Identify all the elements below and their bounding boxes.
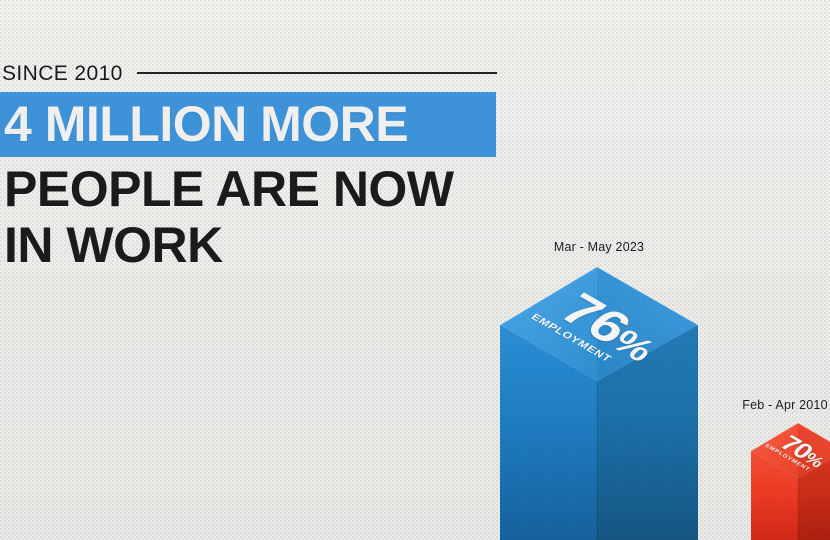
kicker-divider — [137, 72, 497, 74]
headline-line-2: PEOPLE ARE NOW — [0, 161, 520, 217]
headline-line-3: IN WORK — [0, 217, 520, 273]
bar-label-feb-apr-2010: Feb - Apr 2010 — [723, 398, 830, 412]
bar-mar-may-2023: Mar - May 2023 — [499, 240, 699, 540]
bar-label-mar-may-2023: Mar - May 2023 — [499, 240, 699, 254]
bar-prism-blue: 76% EMPLOYMENT — [499, 267, 699, 540]
kicker-text: SINCE 2010 — [2, 63, 123, 84]
bar-feb-apr-2010: Feb - Apr 2010 — [723, 398, 830, 540]
bar-prism-red: 70% EMPLOYMENT — [737, 423, 830, 540]
headline-block: 4 MILLION MORE PEOPLE ARE NOW IN WORK — [0, 92, 520, 273]
kicker-row: SINCE 2010 — [2, 57, 502, 89]
headline-line-1: 4 MILLION MORE — [0, 92, 496, 157]
infographic-canvas: SINCE 2010 4 MILLION MORE PEOPLE ARE NOW… — [0, 0, 830, 540]
